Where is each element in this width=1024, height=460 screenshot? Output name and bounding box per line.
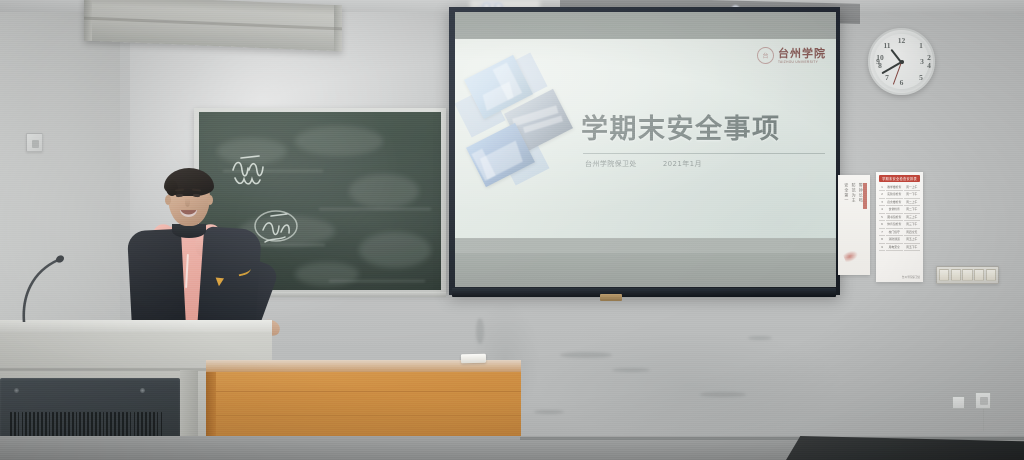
presenter-nose <box>185 198 190 207</box>
row-index: 8 <box>879 236 885 244</box>
duty-schedule-poster: 学期末安全检查安排表 1 教学楼检查 周一上午 2 实验室检查 周一下午 3 宿… <box>876 172 923 282</box>
row-time: 周四全天 <box>904 229 921 237</box>
row-task: 图书馆检查 <box>886 214 903 222</box>
presenter-eye <box>193 194 200 197</box>
slide-subtitle: 台州学院保卫处 2021年1月 <box>585 159 835 169</box>
wall-outlet[interactable] <box>939 269 949 281</box>
logo-text-en: TAIZHOU UNIVERSITY <box>778 60 826 64</box>
table-row: 7 校门值守 周四全天 <box>879 229 920 236</box>
presenter-hair <box>164 168 214 196</box>
row-task: 宿舍楼检查 <box>886 199 903 207</box>
row-time: 周一下午 <box>904 191 921 199</box>
row-task: 校门值守 <box>886 229 903 237</box>
poster-column: 防范为主 <box>851 183 856 203</box>
wall-stain <box>540 330 840 440</box>
row-task: 用电安全 <box>886 244 903 252</box>
row-time: 周二下午 <box>904 206 921 214</box>
poster-table: 1 教学楼检查 周一上午 2 实验室检查 周一下午 3 宿舍楼检查 周二上午 4… <box>879 184 920 251</box>
wall-scuff <box>476 318 484 344</box>
screen-lower-blank <box>455 253 836 287</box>
wall-scuff <box>700 392 746 397</box>
projector-screen: 台 台州学院 TAIZHOU UNIVERSITY 学期末安全事项 台州学院保卫… <box>449 7 840 295</box>
wall-outlet[interactable] <box>986 269 996 281</box>
row-index: 7 <box>879 229 885 237</box>
wall-scuff <box>612 368 650 372</box>
clock-numeral: 5 <box>916 74 926 82</box>
wall-scuff <box>534 410 564 414</box>
poster-brush-mark <box>843 249 860 264</box>
screen-bottom-bar <box>452 288 836 297</box>
classroom-photo: 台 台州学院 TAIZHOU UNIVERSITY 学期末安全事项 台州学院保卫… <box>0 0 1024 460</box>
row-time: 周一上午 <box>904 184 921 192</box>
paper-note[interactable] <box>461 354 486 364</box>
slide-subtitle-date: 2021年1月 <box>663 159 702 169</box>
screen-pull-handle[interactable] <box>600 294 622 301</box>
table-row: 2 实验室检查 周一下午 <box>879 192 920 199</box>
row-task: 实验室检查 <box>886 191 903 199</box>
panel-screw <box>140 388 145 393</box>
table-row: 6 体育馆检查 周三下午 <box>879 222 920 229</box>
table-row: 4 食堂检查 周二下午 <box>879 207 920 214</box>
row-index: 6 <box>879 221 885 229</box>
clock-numeral: 4 <box>924 62 934 70</box>
slide-photo-collage <box>459 49 579 229</box>
row-index: 1 <box>879 184 885 192</box>
clock-numeral: 7 <box>882 74 892 82</box>
table-row: 8 消防通道 周五上午 <box>879 237 920 244</box>
university-seal-icon: 台 <box>757 47 774 64</box>
gooseneck-microphone[interactable] <box>18 246 80 322</box>
row-time: 周三下午 <box>904 221 921 229</box>
wall-scuff <box>748 336 772 340</box>
presenter-ear <box>165 195 171 205</box>
jacket-collar <box>172 224 206 238</box>
poster-red-seal <box>863 183 867 209</box>
row-task: 消防通道 <box>886 236 903 244</box>
calligraphy-poster: 安全第一 防范为主 警钟长鸣 <box>838 175 870 275</box>
jacket-logo-patch: ▼ <box>213 275 225 287</box>
logo-text-cn: 台州学院 <box>778 48 826 59</box>
wall-scuff <box>560 352 612 358</box>
wall-outlet[interactable] <box>962 269 972 281</box>
wall-clock: 12 1 2 3 4 5 6 7 8 9 10 11 <box>868 28 935 95</box>
row-task: 食堂检查 <box>886 206 903 214</box>
row-index: 2 <box>879 191 885 199</box>
row-time: 周二上午 <box>904 199 921 207</box>
row-index: 3 <box>879 199 885 207</box>
panel-vent-grille <box>10 412 162 438</box>
clock-numeral: 10 <box>875 54 885 62</box>
wall-socket-box[interactable] <box>975 392 991 409</box>
row-time: 周五上午 <box>904 236 921 244</box>
clock-numeral: 6 <box>897 79 907 87</box>
presenter-ear <box>207 195 213 205</box>
row-index: 5 <box>879 214 885 222</box>
presentation-slide: 台 台州学院 TAIZHOU UNIVERSITY 学期末安全事项 台州学院保卫… <box>455 39 836 238</box>
fixture-endcap <box>334 5 342 51</box>
row-task: 教学楼检查 <box>886 184 903 192</box>
poster-footer: 台州学院保卫处 <box>879 275 920 279</box>
slide-subtitle-org: 台州学院保卫处 <box>585 159 637 169</box>
wall-outlet-bank[interactable] <box>936 266 999 284</box>
poster-column: 安全第一 <box>844 183 849 203</box>
table-row: 1 教学楼检查 周一上午 <box>879 184 920 191</box>
row-time: 周五下午 <box>904 244 921 252</box>
poster-title: 学期末安全检查安排表 <box>879 175 920 182</box>
light-switch-plate[interactable] <box>26 133 43 152</box>
table-row: 5 图书馆检查 周三上午 <box>879 214 920 221</box>
clock-numeral: 12 <box>897 37 907 45</box>
fixture-endcap <box>84 0 92 41</box>
wall-junction-box <box>952 396 965 409</box>
clock-center-pin <box>900 60 904 64</box>
panel-screw <box>14 388 19 393</box>
clock-face: 12 1 2 3 4 5 6 7 8 9 10 11 <box>874 34 929 89</box>
wall-outlet[interactable] <box>951 269 961 281</box>
screen-surface: 台 台州学院 TAIZHOU UNIVERSITY 学期末安全事项 台州学院保卫… <box>455 12 836 287</box>
row-task: 体育馆检查 <box>886 221 903 229</box>
row-index: 4 <box>879 206 885 214</box>
table-row: 3 宿舍楼检查 周二上午 <box>879 199 920 206</box>
row-time: 周三上午 <box>904 214 921 222</box>
slide-divider <box>583 153 825 154</box>
university-logo: 台 台州学院 TAIZHOU UNIVERSITY <box>757 47 826 64</box>
clock-numeral: 1 <box>916 42 926 50</box>
table-row: 9 用电安全 周五下午 <box>879 244 920 251</box>
row-index: 9 <box>879 244 885 252</box>
wall-cable <box>983 409 984 431</box>
slide-title: 学期末安全事项 <box>581 107 831 146</box>
wall-outlet[interactable] <box>974 269 984 281</box>
